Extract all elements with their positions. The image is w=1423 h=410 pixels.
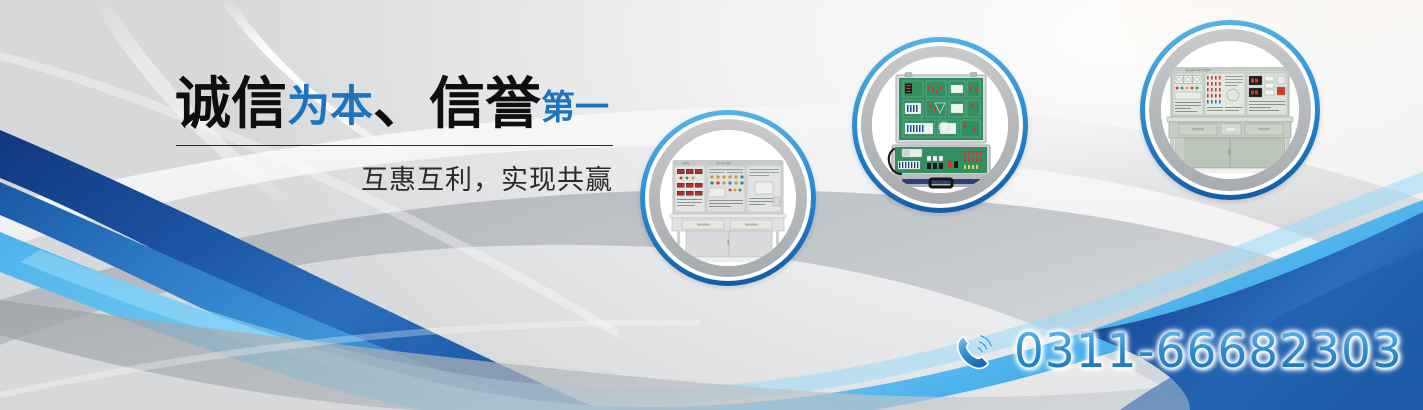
svg-text:电工电子技术: 电工电子技术 [716,161,731,165]
product-circle-2[interactable] [852,37,1028,213]
promotional-banner: 诚信为本、信誉第一 互惠互利，实现共赢 实验台电工电子技术 [0,0,1423,410]
headline-part-5: 第一 [541,89,609,127]
teaching-experiment-bench-illustration: 电机及电气技术实验装置 [1161,41,1299,179]
headline-part-1: 诚信 [175,72,287,135]
circle-3-photo: 电机及电气技术实验装置 [1161,41,1299,179]
page-title: 诚信为本、信誉第一 [175,73,609,139]
electrical-training-workbench-illustration: 实验台电工电子技术 [660,130,796,266]
headline-part-3: 、 [373,72,429,135]
portable-training-case-illustration [872,57,1008,193]
headline-part-2: 为本 [287,83,373,131]
product-circle-3[interactable]: 电机及电气技术实验装置 [1140,20,1320,200]
headline-block: 诚信为本、信誉第一 互惠互利，实现共赢 [0,0,640,410]
phone-call-icon [950,327,1000,377]
product-circle-1[interactable]: 实验台电工电子技术 [640,110,816,286]
svg-text:实验台: 实验台 [682,161,690,165]
svg-text:电机及电气技术实验装置: 电机及电气技术实验装置 [1185,68,1211,72]
headline-part-4: 信誉 [429,72,541,135]
contact-block[interactable]: 0311-66682303 [950,324,1403,379]
title-divider [176,145,613,146]
circle-1-photo: 实验台电工电子技术 [660,130,796,266]
phone-number[interactable]: 0311-66682303 [1014,324,1403,379]
circle-2-photo [872,57,1008,193]
subtitle: 互惠互利，实现共赢 [176,158,613,197]
